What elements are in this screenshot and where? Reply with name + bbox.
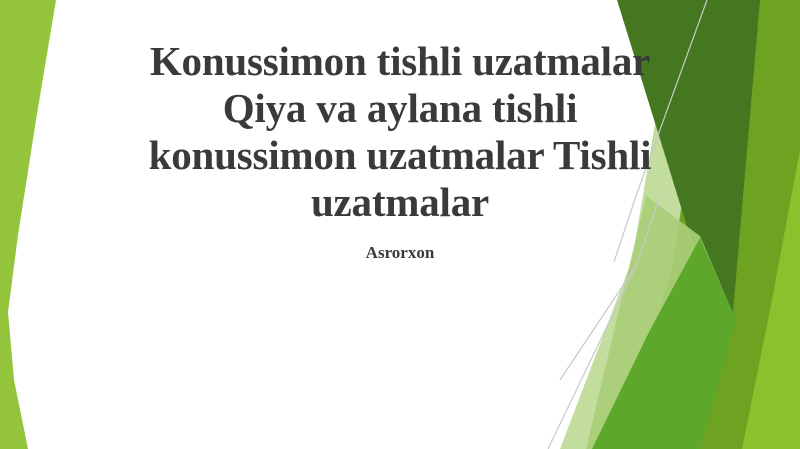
- subtitle-author-text: Asrorxon: [366, 243, 435, 262]
- title-line-2: Qiya va aylana tishli: [60, 85, 740, 132]
- title-line-4: uzatmalar: [60, 179, 740, 226]
- slide-title: Konussimon tishli uzatmalar Qiya va ayla…: [60, 38, 740, 226]
- title-line-3: konussimon uzatmalar Tishli: [60, 132, 740, 179]
- slide-text-layer: Konussimon tishli uzatmalar Qiya va ayla…: [0, 0, 800, 449]
- slide-subtitle: Asrorxon: [60, 242, 740, 264]
- title-line-1: Konussimon tishli uzatmalar: [60, 38, 740, 85]
- presentation-slide: Konussimon tishli uzatmalar Qiya va ayla…: [0, 0, 800, 449]
